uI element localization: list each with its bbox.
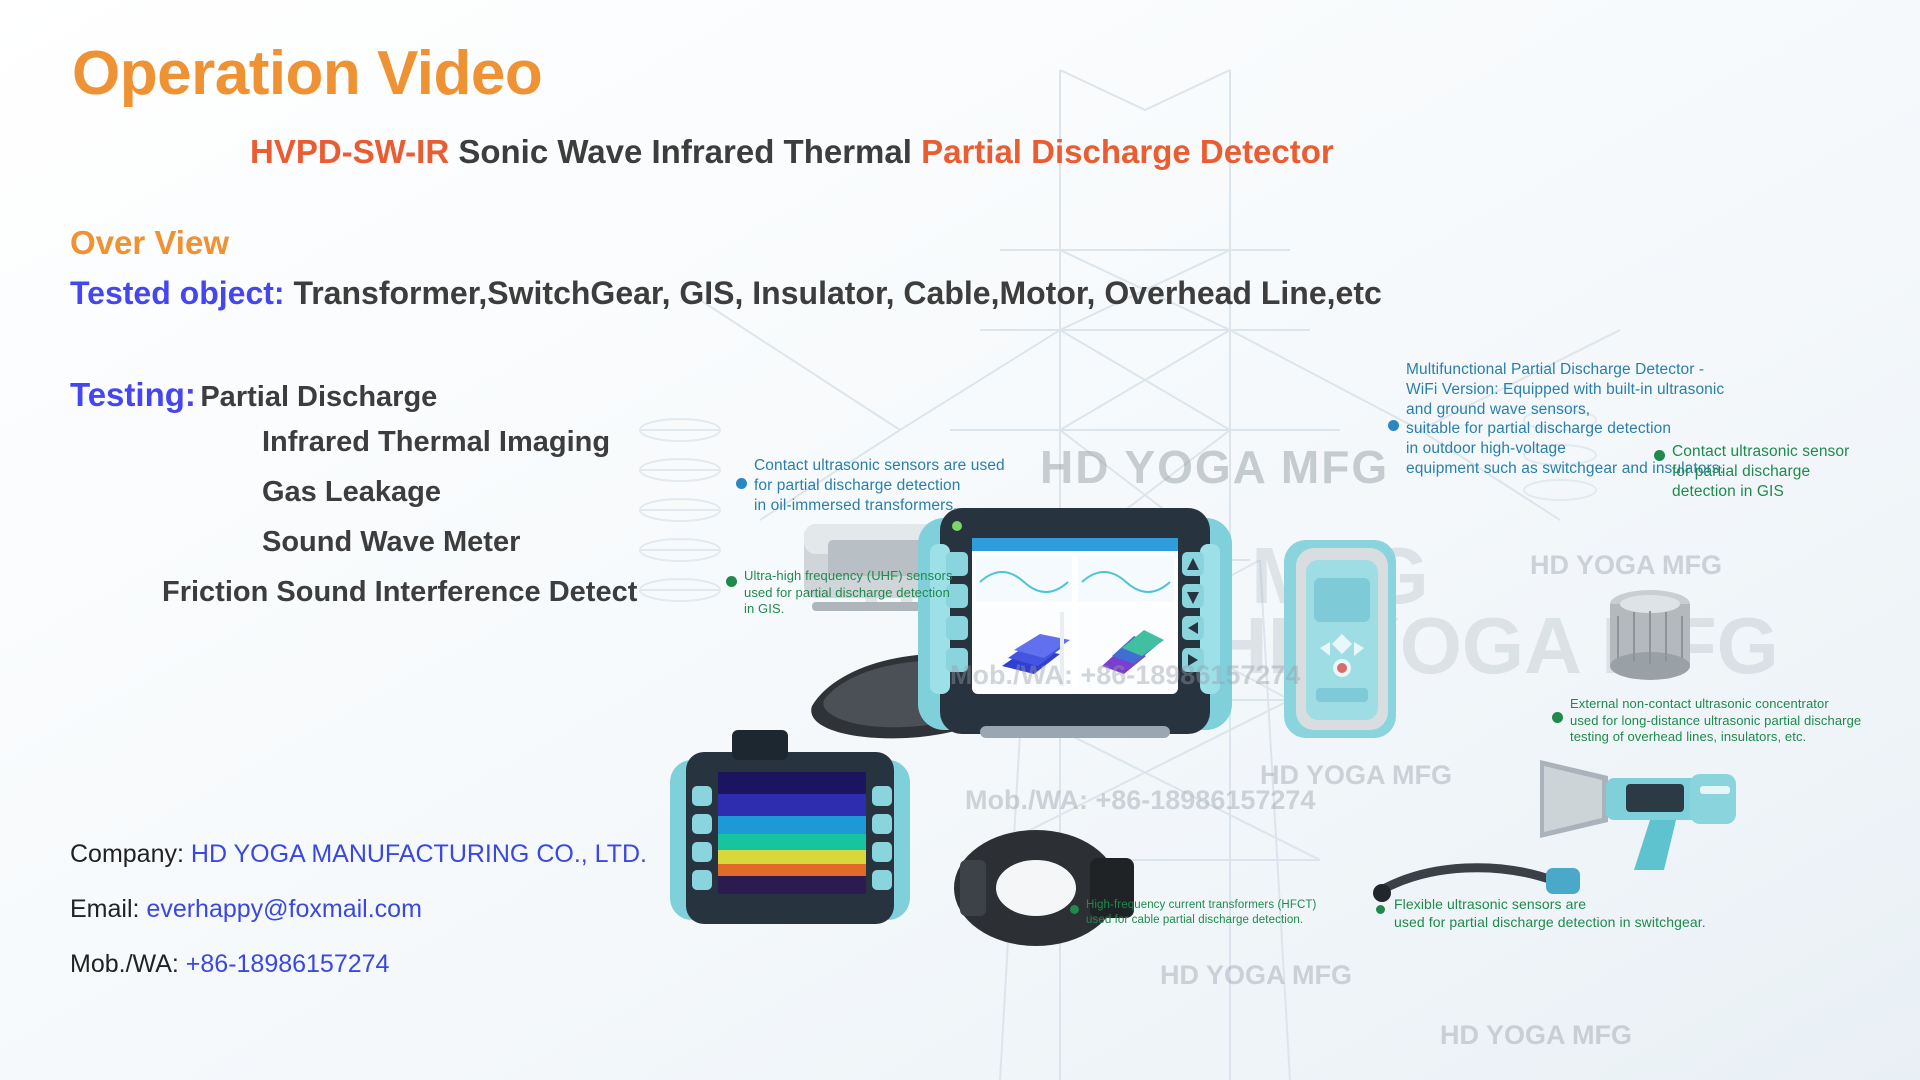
testing-item-1: Infrared Thermal Imaging xyxy=(262,426,610,458)
annotation-contact-ultrasonic-gis: Contact ultrasonic sensor for partial di… xyxy=(1672,442,1849,501)
annotation-dot-icon-4 xyxy=(1552,712,1563,723)
tested-object-label: Tested object: xyxy=(70,275,285,311)
testing-item-4: Friction Sound Interference Detect xyxy=(162,576,637,608)
overview-heading: Over View xyxy=(70,224,229,262)
testing-item-0: Partial Discharge xyxy=(200,381,437,413)
contact-company-label: Company: xyxy=(70,840,184,868)
watermark-mid-right: HD YOGA MFG xyxy=(1260,760,1452,791)
subtitle-middle: Sonic Wave Infrared Thermal xyxy=(449,133,921,170)
annotation-dot-icon-0 xyxy=(736,478,747,489)
testing-label: Testing: xyxy=(70,376,196,413)
testing-row-0: Testing: Partial Discharge xyxy=(70,376,637,426)
testing-row-4: Friction Sound Interference Detect xyxy=(70,576,637,626)
annotation-dot-icon-1 xyxy=(1388,420,1399,431)
contact-block: Company: HD YOGA MANUFACTURING CO., LTD.… xyxy=(70,840,647,1005)
tested-object-value: Transformer,SwitchGear, GIS, Insulator, … xyxy=(285,275,1382,311)
page-subtitle: HVPD-SW-IR Sonic Wave Infrared Thermal P… xyxy=(250,133,1334,171)
testing-row-1: Infrared Thermal Imaging xyxy=(70,426,637,476)
tested-object-line: Tested object: Transformer,SwitchGear, G… xyxy=(70,275,1382,312)
contact-company-value: HD YOGA MANUFACTURING CO., LTD. xyxy=(191,840,647,868)
contact-email: Email: everhappy@foxmail.com xyxy=(70,895,647,924)
annotation-flexible-ultrasonic-switchgear: Flexible ultrasonic sensors are used for… xyxy=(1394,896,1706,932)
watermark-brand: HD YOGA MFG xyxy=(1040,440,1389,494)
device-main-detector xyxy=(910,500,1240,750)
testing-row-2: Gas Leakage xyxy=(70,476,637,526)
device-wifi-handheld xyxy=(1270,530,1410,750)
testing-item-3: Sound Wave Meter xyxy=(262,526,520,558)
contact-mobile: Mob./WA: +86-18986157274 xyxy=(70,950,647,979)
annotation-external-non-contact-concentrator: External non-contact ultrasonic concentr… xyxy=(1570,696,1861,746)
subtitle-model: HVPD-SW-IR xyxy=(250,133,449,170)
product-diagram: HD YOGA MFG HD YOGA MFG HD YOGA MFG HD Y… xyxy=(740,330,1920,1080)
watermark-mid-bottom: HD YOGA MFG xyxy=(1160,960,1352,991)
contact-email-value[interactable]: everhappy@foxmail.com xyxy=(146,895,422,923)
subtitle-highlight: Partial Discharge Detector xyxy=(921,133,1334,170)
annotation-uhf-sensors-gis: Ultra-high frequency (UHF) sensors used … xyxy=(744,568,953,618)
contact-mobile-value[interactable]: +86-18986157274 xyxy=(186,950,390,978)
contact-company: Company: HD YOGA MANUFACTURING CO., LTD. xyxy=(70,840,647,869)
annotation-dot-icon-3 xyxy=(726,576,737,587)
page-title: Operation Video xyxy=(72,38,542,109)
testing-item-2: Gas Leakage xyxy=(262,476,441,508)
device-thermal-imager xyxy=(660,730,920,930)
annotation-contact-ultrasonic-transformers: Contact ultrasonic sensors are used for … xyxy=(754,456,1005,515)
device-gis-contact-sensor xyxy=(1590,570,1710,700)
testing-row-3: Sound Wave Meter xyxy=(70,526,637,576)
device-hfct-clamp xyxy=(940,810,1140,960)
watermark-mid-bottom-right: HD YOGA MFG xyxy=(1440,1020,1632,1051)
testing-block: Testing: Partial Discharge Infrared Ther… xyxy=(70,376,637,626)
annotation-hfct-cable: High-frequency current transformers (HFC… xyxy=(1086,898,1316,927)
annotation-dot-icon-2 xyxy=(1654,450,1665,461)
slide-root: Operation Video HVPD-SW-IR Sonic Wave In… xyxy=(0,0,1920,1080)
annotation-dot-icon-5 xyxy=(1070,905,1079,914)
contact-mobile-label: Mob./WA: xyxy=(70,950,179,978)
contact-email-label: Email: xyxy=(70,895,139,923)
annotation-dot-icon-6 xyxy=(1376,905,1385,914)
